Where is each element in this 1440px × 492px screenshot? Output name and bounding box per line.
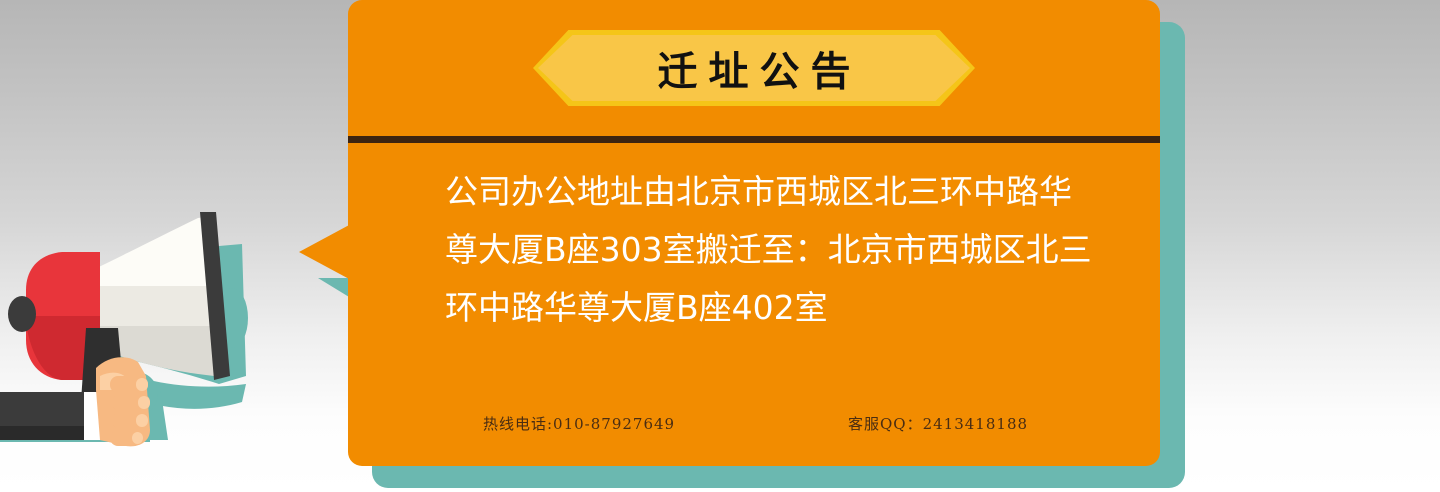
- footer-contacts: 热线电话:010-87927649 客服QQ：2413418188: [348, 406, 1160, 440]
- customer-service-qq-text: 客服QQ：2413418188: [848, 413, 1028, 434]
- announcement-body: 公司办公地址由北京市西城区北三环中路华尊大厦B座303室搬迁至：北京市西城区北三…: [445, 163, 1095, 337]
- header-divider: [348, 136, 1160, 143]
- megaphone-illustration: [0, 190, 310, 492]
- hotline-text: 热线电话:010-87927649: [483, 413, 675, 434]
- page-title: 迁址公告: [533, 30, 975, 106]
- announcement-banner-image: 迁址公告 公司办公地址由北京市西城区北三环中路华尊大厦B座303室搬迁至：北京市…: [0, 0, 1440, 492]
- title-ribbon: 迁址公告: [533, 30, 975, 106]
